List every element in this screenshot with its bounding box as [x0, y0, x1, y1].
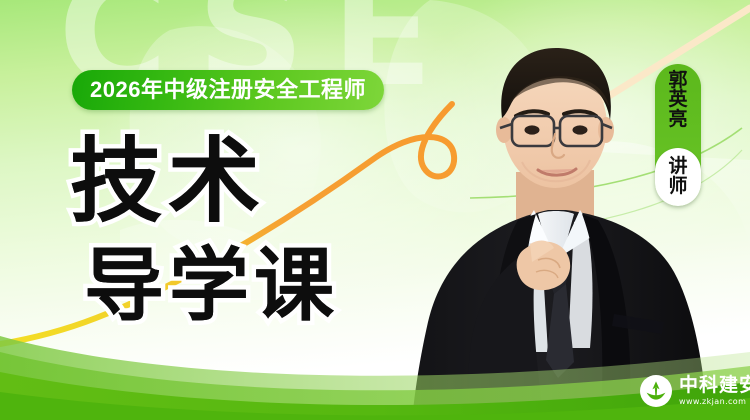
brand-url: www.zkjan.com — [679, 398, 750, 406]
instructor-name-char-1: 郭 — [668, 71, 687, 90]
brand-logo-text: 中科建安 www.zkjan.com — [679, 376, 750, 406]
instructor-role-char-2: 师 — [668, 177, 687, 197]
zkjan-emblem-icon — [640, 375, 672, 407]
brand-logo: 中科建安 www.zkjan.com — [640, 375, 750, 407]
title-line2: 导学课 — [84, 246, 339, 326]
instructor-name-char-3: 亮 — [668, 110, 687, 129]
main-title-block: 技术 导学课 技术 导学课 — [0, 0, 750, 420]
instructor-role: 讲 师 — [668, 157, 687, 197]
instructor-role-badge: 讲 师 — [655, 148, 701, 206]
instructor-name-char-2: 英 — [668, 90, 687, 109]
title-line1: 技术 — [70, 136, 266, 228]
instructor-name: 郭 英 亮 — [668, 71, 687, 129]
course-poster: CSE — [0, 0, 750, 420]
brand-name: 中科建安 — [679, 376, 750, 395]
instructor-role-char-1: 讲 — [668, 157, 687, 177]
